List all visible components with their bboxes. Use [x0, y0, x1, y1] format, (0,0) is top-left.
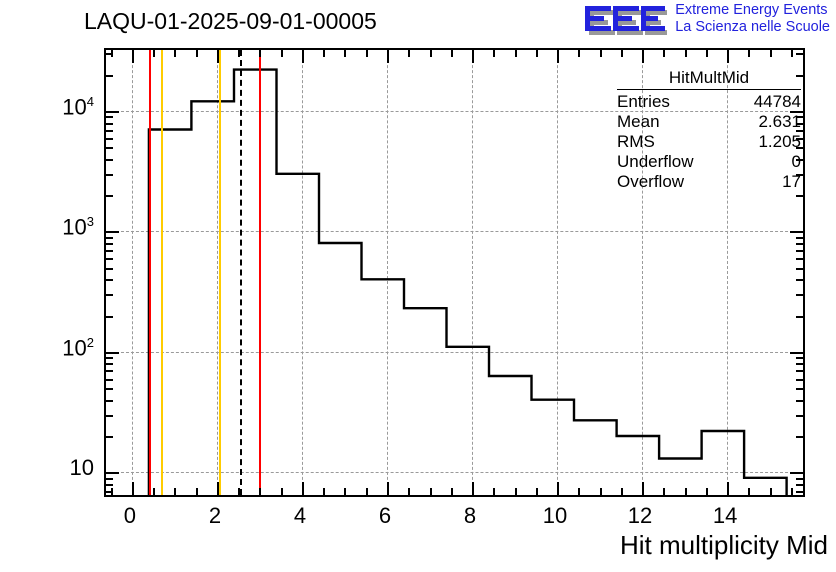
y-tick-minor-right — [796, 484, 803, 486]
y-tick-minor-left — [106, 195, 113, 197]
y-tick-minor-left — [106, 478, 113, 480]
x-tick-top-minor — [685, 50, 687, 57]
x-tick-bottom-minor — [111, 488, 113, 495]
x-tick-top-major — [387, 50, 389, 63]
x-tick-top-minor — [344, 50, 346, 57]
stats-rows: Entries44784Mean2.631RMS1.205Underflow0O… — [611, 92, 807, 192]
y-tick-major-left — [106, 472, 119, 474]
y-tick-minor-right — [796, 388, 803, 390]
x-tick-top-minor — [196, 50, 198, 57]
y-tick-minor-right — [796, 195, 803, 197]
y-tick-minor-right — [796, 243, 803, 245]
root-canvas: LAQU-01-2025-09-01-00005 — [0, 0, 836, 572]
x-tick-label: 8 — [440, 503, 500, 529]
x-tick-bottom-minor — [685, 488, 687, 495]
y-tick-minor-right — [796, 491, 803, 493]
x-tick-label: 4 — [270, 503, 330, 529]
stats-divider — [617, 89, 801, 90]
x-tick-bottom-major — [727, 482, 729, 495]
x-tick-top-minor — [791, 50, 793, 57]
x-tick-bottom-major — [642, 482, 644, 495]
y-tick-minor-left — [106, 316, 113, 318]
y-tick-minor-left — [106, 243, 113, 245]
y-tick-minor-left — [106, 388, 113, 390]
x-tick-top-minor — [770, 50, 772, 57]
x-tick-label: 6 — [355, 503, 415, 529]
x-tick-top-major — [217, 50, 219, 63]
stats-row: Underflow0 — [611, 152, 807, 172]
x-tick-bottom-minor — [493, 488, 495, 495]
x-tick-bottom-minor — [451, 488, 453, 495]
x-tick-top-minor — [408, 50, 410, 57]
x-tick-top-minor — [663, 50, 665, 57]
y-tick-minor-left — [106, 379, 113, 381]
y-tick-minor-left — [106, 268, 113, 270]
y-tick-minor-left — [106, 116, 113, 118]
stats-box: HitMultMid Entries44784Mean2.631RMS1.205… — [611, 68, 807, 192]
x-tick-top-minor — [621, 50, 623, 57]
x-tick-top-minor — [493, 50, 495, 57]
x-tick-top-minor — [451, 50, 453, 57]
y-tick-minor-right — [796, 279, 803, 281]
x-axis-title: Hit multiplicity Mid — [620, 530, 828, 561]
x-tick-top-major — [557, 50, 559, 63]
stats-row-key: Underflow — [617, 152, 694, 172]
y-tick-major-right — [790, 472, 803, 474]
x-tick-bottom-minor — [578, 488, 580, 495]
stats-title: HitMultMid — [611, 68, 807, 89]
y-tick-major-right — [790, 352, 803, 354]
stats-row-value: 17 — [782, 172, 801, 192]
x-tick-bottom-minor — [536, 488, 538, 495]
x-tick-bottom-minor — [238, 488, 240, 495]
eee-logo: Extreme Energy Events La Scienza nelle S… — [583, 2, 830, 40]
y-tick-minor-right — [796, 436, 803, 438]
y-tick-major-right — [790, 231, 803, 233]
y-tick-minor-left — [106, 130, 113, 132]
y-tick-label: 10 — [70, 455, 94, 481]
stats-row-key: RMS — [617, 132, 655, 152]
y-tick-minor-left — [106, 250, 113, 252]
y-tick-minor-left — [106, 357, 113, 359]
x-tick-top-minor — [323, 50, 325, 57]
x-tick-label: 2 — [185, 503, 245, 529]
y-tick-minor-left — [106, 363, 113, 365]
x-tick-bottom-minor — [600, 488, 602, 495]
x-tick-bottom-minor — [706, 488, 708, 495]
x-tick-top-minor — [430, 50, 432, 57]
x-tick-bottom-minor — [281, 488, 283, 495]
stats-row-key: Mean — [617, 112, 660, 132]
y-tick-minor-left — [106, 174, 113, 176]
threshold-low-red — [149, 50, 151, 495]
y-tick-minor-right — [796, 316, 803, 318]
x-tick-top-minor — [259, 50, 261, 57]
page-title: LAQU-01-2025-09-01-00005 — [84, 8, 377, 35]
y-tick-minor-left — [106, 484, 113, 486]
x-tick-label: 0 — [100, 503, 160, 529]
x-tick-top-minor — [281, 50, 283, 57]
x-tick-top-minor — [578, 50, 580, 57]
x-tick-bottom-major — [557, 482, 559, 495]
x-tick-label: 12 — [610, 503, 670, 529]
y-tick-label: 103 — [62, 214, 94, 240]
x-tick-bottom-minor — [408, 488, 410, 495]
stats-row: Mean2.631 — [611, 112, 807, 132]
eee-logo-text: Extreme Energy Events La Scienza nelle S… — [675, 2, 830, 36]
y-tick-minor-right — [796, 370, 803, 372]
x-tick-bottom-minor — [663, 488, 665, 495]
x-tick-label: 10 — [525, 503, 585, 529]
y-tick-minor-left — [106, 237, 113, 239]
y-tick-minor-right — [796, 250, 803, 252]
stats-row: RMS1.205 — [611, 132, 807, 152]
stats-row-value: 44784 — [754, 92, 801, 112]
threshold-low-gold — [161, 50, 163, 495]
x-tick-top-minor — [174, 50, 176, 57]
x-tick-bottom-minor — [366, 488, 368, 495]
x-tick-top-minor — [111, 50, 113, 57]
x-tick-bottom-minor — [515, 488, 517, 495]
eee-logo-mark — [583, 2, 669, 40]
y-tick-minor-right — [796, 294, 803, 296]
y-tick-minor-left — [106, 147, 113, 149]
x-tick-bottom-minor — [791, 488, 793, 495]
stats-row-value: 2.631 — [758, 112, 801, 132]
y-tick-minor-left — [106, 400, 113, 402]
stats-row-value: 0 — [792, 152, 801, 172]
stats-row: Overflow17 — [611, 172, 807, 192]
mean-marker — [240, 50, 242, 495]
x-tick-bottom-minor — [174, 488, 176, 495]
y-tick-major-left — [106, 231, 119, 233]
y-tick-major-left — [106, 352, 119, 354]
eee-logo-line1: Extreme Energy Events — [675, 2, 830, 19]
x-tick-bottom-minor — [344, 488, 346, 495]
x-tick-top-minor — [515, 50, 517, 57]
y-tick-minor-right — [796, 268, 803, 270]
x-tick-top-major — [642, 50, 644, 63]
y-tick-minor-left — [106, 258, 113, 260]
x-tick-top-minor — [536, 50, 538, 57]
y-tick-minor-left — [106, 279, 113, 281]
y-tick-minor-right — [796, 478, 803, 480]
y-tick-minor-right — [796, 400, 803, 402]
y-tick-minor-right — [796, 379, 803, 381]
y-tick-minor-left — [106, 436, 113, 438]
y-tick-minor-left — [106, 294, 113, 296]
x-tick-bottom-minor — [259, 488, 261, 495]
x-tick-bottom-major — [472, 482, 474, 495]
y-tick-minor-left — [106, 75, 113, 77]
x-tick-bottom-minor — [153, 488, 155, 495]
y-tick-major-left — [106, 111, 119, 113]
y-tick-minor-right — [796, 363, 803, 365]
stats-row-key: Overflow — [617, 172, 684, 192]
x-tick-bottom-major — [302, 482, 304, 495]
y-tick-minor-right — [796, 53, 803, 55]
y-tick-minor-left — [106, 138, 113, 140]
y-tick-minor-right — [796, 357, 803, 359]
x-tick-top-minor — [153, 50, 155, 57]
x-tick-top-major — [302, 50, 304, 63]
x-tick-top-major — [132, 50, 134, 63]
y-tick-minor-left — [106, 370, 113, 372]
y-tick-label: 104 — [62, 94, 94, 120]
x-tick-bottom-minor — [323, 488, 325, 495]
x-tick-top-major — [472, 50, 474, 63]
x-tick-top-major — [727, 50, 729, 63]
x-tick-top-minor — [366, 50, 368, 57]
x-tick-bottom-minor — [196, 488, 198, 495]
x-tick-top-minor — [238, 50, 240, 57]
y-tick-minor-left — [106, 159, 113, 161]
x-tick-label: 14 — [695, 503, 755, 529]
x-tick-bottom-minor — [430, 488, 432, 495]
x-tick-bottom-major — [132, 482, 134, 495]
threshold-high-red — [259, 50, 261, 495]
threshold-high-gold — [219, 50, 221, 495]
y-tick-minor-left — [106, 415, 113, 417]
y-tick-minor-right — [796, 237, 803, 239]
stats-row-value: 1.205 — [758, 132, 801, 152]
y-tick-minor-left — [106, 123, 113, 125]
x-tick-top-minor — [600, 50, 602, 57]
stats-row-key: Entries — [617, 92, 670, 112]
x-tick-bottom-minor — [621, 488, 623, 495]
x-tick-bottom-minor — [748, 488, 750, 495]
stats-row: Entries44784 — [611, 92, 807, 112]
x-tick-top-minor — [706, 50, 708, 57]
y-tick-minor-right — [796, 258, 803, 260]
y-tick-minor-right — [796, 415, 803, 417]
y-tick-label: 102 — [62, 335, 94, 361]
x-tick-top-minor — [748, 50, 750, 57]
x-tick-bottom-major — [217, 482, 219, 495]
x-tick-bottom-minor — [770, 488, 772, 495]
x-tick-bottom-major — [387, 482, 389, 495]
eee-logo-line2: La Scienza nelle Scuole — [675, 19, 830, 36]
